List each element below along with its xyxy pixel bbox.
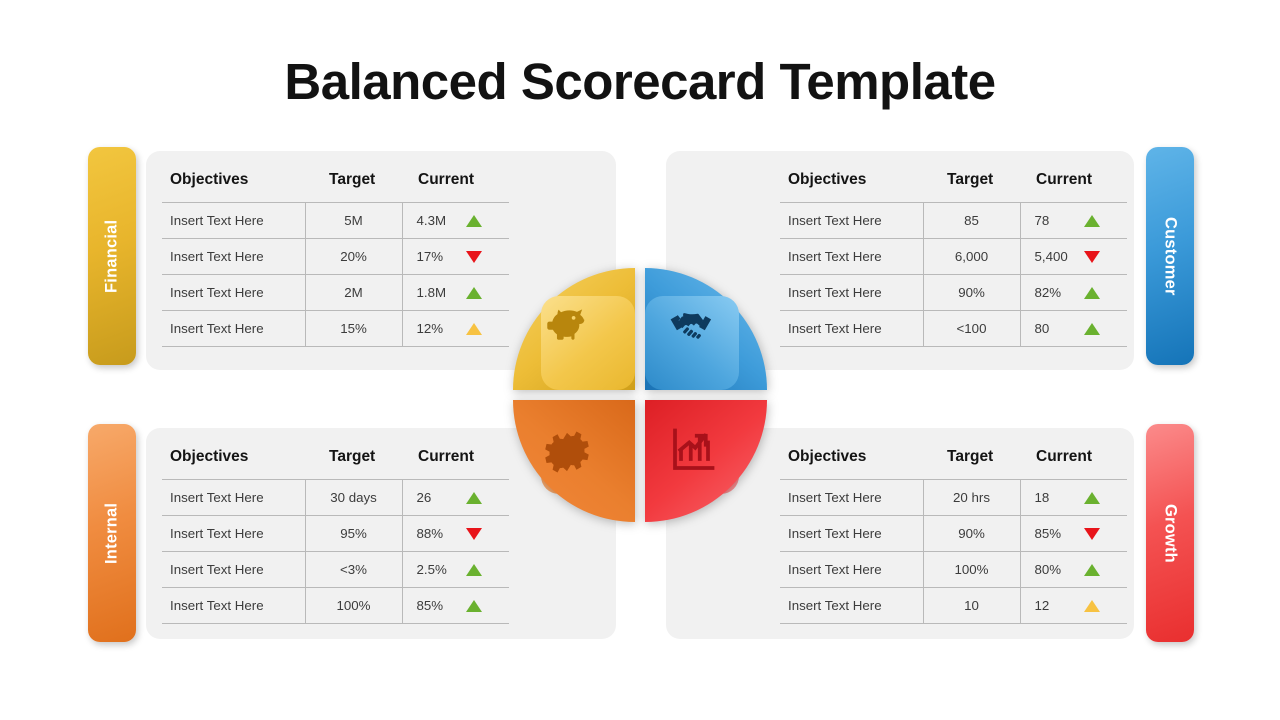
side-tab-financial-label: Financial — [88, 147, 136, 365]
cell-objective[interactable]: Insert Text Here — [162, 203, 305, 239]
piggy-bank-icon — [543, 299, 591, 347]
side-tab-growth-label: Growth — [1146, 424, 1194, 642]
gear-icon — [543, 428, 591, 476]
cell-target[interactable]: 90% — [923, 516, 1020, 552]
scorecard-table-financial: Objectives Target Current Insert Text He… — [162, 163, 509, 347]
cell-current[interactable]: 80% — [1020, 552, 1127, 588]
cell-target[interactable]: 100% — [923, 552, 1020, 588]
trend-up-icon — [466, 492, 482, 504]
table-body-internal: Insert Text Here30 days26Insert Text Her… — [162, 480, 509, 624]
table-body-growth: Insert Text Here20 hrs18Insert Text Here… — [780, 480, 1127, 624]
current-value-wrap: 82% — [1035, 285, 1128, 300]
cell-current[interactable]: 82% — [1020, 275, 1127, 311]
current-value-wrap: 12 — [1035, 598, 1128, 613]
column-header-objectives: Objectives — [780, 440, 923, 480]
trend-up-icon — [1084, 215, 1100, 227]
cell-current[interactable]: 85% — [1020, 516, 1127, 552]
column-header-current: Current — [402, 440, 509, 480]
cell-current[interactable]: 85% — [402, 588, 509, 624]
scorecard-table-growth: Objectives Target Current Insert Text He… — [780, 440, 1127, 624]
table-row[interactable]: Insert Text Here8578 — [780, 203, 1127, 239]
current-value-wrap: 80 — [1035, 321, 1128, 336]
slide-canvas: Balanced Scorecard Template Financial Ob… — [0, 0, 1280, 720]
trend-up-icon — [1084, 564, 1100, 576]
table-header-row: Objectives Target Current — [780, 163, 1127, 203]
scorecard-table-internal: Objectives Target Current Insert Text He… — [162, 440, 509, 624]
trend-up-icon — [466, 287, 482, 299]
side-tab-internal-label: Internal — [88, 424, 136, 642]
current-value: 17% — [417, 249, 460, 264]
page-title: Balanced Scorecard Template — [0, 50, 1280, 114]
current-value-wrap: 78 — [1035, 213, 1128, 228]
current-value: 12% — [417, 321, 460, 336]
cell-target[interactable]: 95% — [305, 516, 402, 552]
column-header-current: Current — [1020, 440, 1127, 480]
trend-up-icon — [1084, 287, 1100, 299]
table-row[interactable]: Insert Text Here90%82% — [780, 275, 1127, 311]
current-value: 80% — [1035, 562, 1078, 577]
cell-objective[interactable]: Insert Text Here — [162, 588, 305, 624]
column-header-current: Current — [402, 163, 509, 203]
table-body-financial: Insert Text Here5M4.3MInsert Text Here20… — [162, 203, 509, 347]
trend-up-icon — [1084, 492, 1100, 504]
column-header-objectives: Objectives — [780, 163, 923, 203]
current-value-wrap: 12% — [417, 321, 510, 336]
bar-chart-growth-icon — [669, 426, 717, 474]
cell-objective[interactable]: Insert Text Here — [162, 239, 305, 275]
current-value-wrap: 4.3M — [417, 213, 510, 228]
table-row[interactable]: Insert Text Here100%80% — [780, 552, 1127, 588]
current-value: 4.3M — [417, 213, 460, 228]
cell-objective[interactable]: Insert Text Here — [780, 588, 923, 624]
table-row[interactable]: Insert Text Here20 hrs18 — [780, 480, 1127, 516]
cell-current[interactable]: 2.5% — [402, 552, 509, 588]
cell-target[interactable]: 90% — [923, 275, 1020, 311]
current-value-wrap: 1.8M — [417, 285, 510, 300]
cell-target[interactable]: 30 days — [305, 480, 402, 516]
current-value: 85% — [1035, 526, 1078, 541]
side-tab-financial[interactable]: Financial — [88, 147, 136, 365]
cell-objective[interactable]: Insert Text Here — [780, 275, 923, 311]
column-header-target: Target — [305, 163, 402, 203]
cell-objective[interactable]: Insert Text Here — [780, 203, 923, 239]
table-row[interactable]: Insert Text Here20%17% — [162, 239, 509, 275]
table-row[interactable]: Insert Text Here95%88% — [162, 516, 509, 552]
cell-objective[interactable]: Insert Text Here — [780, 239, 923, 275]
column-header-target: Target — [305, 440, 402, 480]
cell-objective[interactable]: Insert Text Here — [780, 311, 923, 347]
current-value: 1.8M — [417, 285, 460, 300]
cell-target[interactable]: 85 — [923, 203, 1020, 239]
cell-current[interactable]: 80 — [1020, 311, 1127, 347]
current-value: 82% — [1035, 285, 1078, 300]
current-value-wrap: 18 — [1035, 490, 1128, 505]
current-value: 78 — [1035, 213, 1078, 228]
cell-objective[interactable]: Insert Text Here — [162, 552, 305, 588]
cell-target[interactable]: 20 hrs — [923, 480, 1020, 516]
cell-objective[interactable]: Insert Text Here — [162, 275, 305, 311]
cell-target[interactable]: <100 — [923, 311, 1020, 347]
current-value-wrap: 88% — [417, 526, 510, 541]
cell-current[interactable]: 18 — [1020, 480, 1127, 516]
cell-objective[interactable]: Insert Text Here — [780, 480, 923, 516]
current-value: 18 — [1035, 490, 1078, 505]
table-row[interactable]: Insert Text Here90%85% — [780, 516, 1127, 552]
current-value: 2.5% — [417, 562, 460, 577]
cell-target[interactable]: 15% — [305, 311, 402, 347]
current-value-wrap: 26 — [417, 490, 510, 505]
table-row[interactable]: Insert Text Here<10080 — [780, 311, 1127, 347]
cell-current[interactable]: 88% — [402, 516, 509, 552]
trend-down-icon — [1084, 528, 1100, 540]
current-value-wrap: 5,400 — [1035, 249, 1128, 264]
trend-warning-icon — [1084, 600, 1100, 612]
cell-current[interactable]: 4.3M — [402, 203, 509, 239]
pinwheel-petal-internal[interactable] — [513, 400, 635, 522]
column-header-target: Target — [923, 163, 1020, 203]
side-tab-customer[interactable]: Customer — [1146, 147, 1194, 365]
table-header-row: Objectives Target Current — [780, 440, 1127, 480]
table-row[interactable]: Insert Text Here2M1.8M — [162, 275, 509, 311]
trend-down-icon — [466, 251, 482, 263]
table-header-row: Objectives Target Current — [162, 440, 509, 480]
cell-objective[interactable]: Insert Text Here — [162, 516, 305, 552]
cell-target[interactable]: 2M — [305, 275, 402, 311]
current-value-wrap: 2.5% — [417, 562, 510, 577]
pinwheel-petal-financial[interactable] — [513, 268, 635, 390]
side-tab-customer-label: Customer — [1146, 147, 1194, 365]
cell-objective[interactable]: Insert Text Here — [780, 516, 923, 552]
current-value: 12 — [1035, 598, 1078, 613]
current-value-wrap: 17% — [417, 249, 510, 264]
cell-current[interactable]: 26 — [402, 480, 509, 516]
cell-target[interactable]: 5M — [305, 203, 402, 239]
table-row[interactable]: Insert Text Here30 days26 — [162, 480, 509, 516]
side-tab-growth[interactable]: Growth — [1146, 424, 1194, 642]
table-header-row: Objectives Target Current — [162, 163, 509, 203]
cell-current[interactable]: 17% — [402, 239, 509, 275]
cell-target[interactable]: 10 — [923, 588, 1020, 624]
pinwheel-petal-customer[interactable] — [645, 268, 767, 390]
cell-target[interactable]: <3% — [305, 552, 402, 588]
current-value-wrap: 85% — [1035, 526, 1128, 541]
current-value: 26 — [417, 490, 460, 505]
column-header-objectives: Objectives — [162, 163, 305, 203]
trend-up-icon — [466, 564, 482, 576]
cell-objective[interactable]: Insert Text Here — [780, 552, 923, 588]
table-row[interactable]: Insert Text Here<3%2.5% — [162, 552, 509, 588]
handshake-icon — [667, 301, 715, 349]
pinwheel-diagram — [513, 268, 767, 522]
pinwheel-petal-growth[interactable] — [645, 400, 767, 522]
trend-down-icon — [466, 528, 482, 540]
scorecard-table-customer: Objectives Target Current Insert Text He… — [780, 163, 1127, 347]
table-body-customer: Insert Text Here8578Insert Text Here6,00… — [780, 203, 1127, 347]
table-row[interactable]: Insert Text Here1012 — [780, 588, 1127, 624]
cell-current[interactable]: 12% — [402, 311, 509, 347]
table-row[interactable]: Insert Text Here6,0005,400 — [780, 239, 1127, 275]
table-row[interactable]: Insert Text Here5M4.3M — [162, 203, 509, 239]
current-value-wrap: 80% — [1035, 562, 1128, 577]
cell-current[interactable]: 12 — [1020, 588, 1127, 624]
current-value: 80 — [1035, 321, 1078, 336]
trend-up-icon — [466, 215, 482, 227]
column-header-current: Current — [1020, 163, 1127, 203]
trend-warning-icon — [466, 323, 482, 335]
cell-target[interactable]: 100% — [305, 588, 402, 624]
cell-objective[interactable]: Insert Text Here — [162, 480, 305, 516]
cell-target[interactable]: 20% — [305, 239, 402, 275]
table-row[interactable]: Insert Text Here15%12% — [162, 311, 509, 347]
table-row[interactable]: Insert Text Here100%85% — [162, 588, 509, 624]
column-header-objectives: Objectives — [162, 440, 305, 480]
cell-current[interactable]: 78 — [1020, 203, 1127, 239]
current-value: 88% — [417, 526, 460, 541]
current-value: 85% — [417, 598, 460, 613]
cell-current[interactable]: 1.8M — [402, 275, 509, 311]
cell-current[interactable]: 5,400 — [1020, 239, 1127, 275]
current-value-wrap: 85% — [417, 598, 510, 613]
cell-target[interactable]: 6,000 — [923, 239, 1020, 275]
cell-objective[interactable]: Insert Text Here — [162, 311, 305, 347]
trend-down-icon — [1084, 251, 1100, 263]
trend-up-icon — [466, 600, 482, 612]
side-tab-internal[interactable]: Internal — [88, 424, 136, 642]
column-header-target: Target — [923, 440, 1020, 480]
current-value: 5,400 — [1035, 249, 1078, 264]
trend-up-icon — [1084, 323, 1100, 335]
